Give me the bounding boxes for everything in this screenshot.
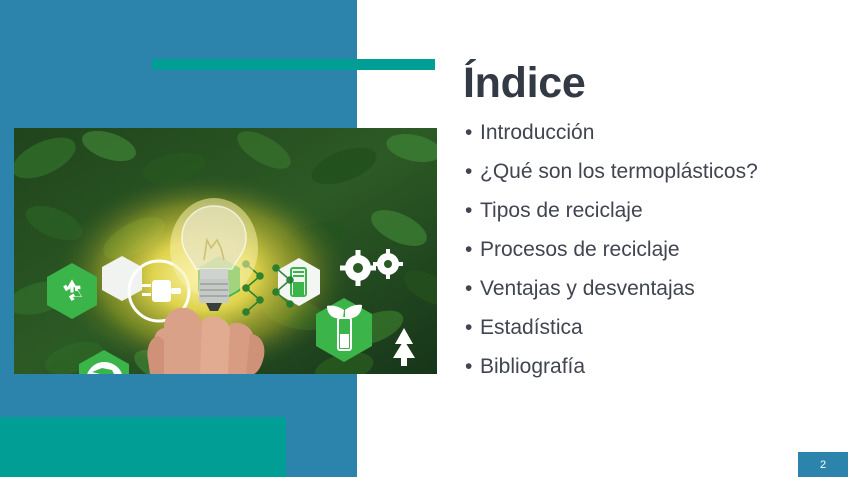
page-title: Índice bbox=[463, 60, 838, 106]
bullet-icon: • bbox=[465, 239, 472, 260]
list-item-label: Ventajas y desventajas bbox=[480, 277, 695, 300]
bullet-icon: • bbox=[465, 122, 472, 143]
content-column: Índice • Introducción • ¿Qué son los ter… bbox=[463, 60, 838, 377]
list-item-label: Estadística bbox=[480, 316, 583, 339]
agenda-list: • Introducción • ¿Qué son los termoplást… bbox=[463, 122, 838, 377]
list-item: • Tipos de reciclaje bbox=[463, 200, 838, 221]
list-item: • Ventajas y desventajas bbox=[463, 278, 838, 299]
list-item-label: Tipos de reciclaje bbox=[480, 199, 643, 222]
teal-accent-bar bbox=[152, 59, 435, 70]
bullet-icon: • bbox=[465, 161, 472, 182]
list-item: • Bibliografía bbox=[463, 356, 838, 377]
slide-photo bbox=[14, 128, 437, 374]
bullet-icon: • bbox=[465, 356, 472, 377]
list-item: • ¿Qué son los termoplásticos? bbox=[463, 161, 838, 182]
list-item: • Procesos de reciclaje bbox=[463, 239, 838, 260]
list-item-label: Introducción bbox=[480, 121, 594, 144]
bullet-icon: • bbox=[465, 317, 472, 338]
slide: Índice • Introducción • ¿Qué son los ter… bbox=[0, 0, 848, 477]
teal-accent-block bbox=[0, 417, 286, 477]
bullet-icon: • bbox=[465, 278, 472, 299]
list-item-label: Bibliografía bbox=[480, 355, 585, 378]
list-item-label: Procesos de reciclaje bbox=[480, 238, 680, 261]
list-item-label: ¿Qué son los termoplásticos? bbox=[480, 160, 758, 183]
page-number-badge: 2 bbox=[798, 452, 848, 477]
list-item: • Introducción bbox=[463, 122, 838, 143]
bullet-icon: • bbox=[465, 200, 472, 221]
list-item: • Estadística bbox=[463, 317, 838, 338]
